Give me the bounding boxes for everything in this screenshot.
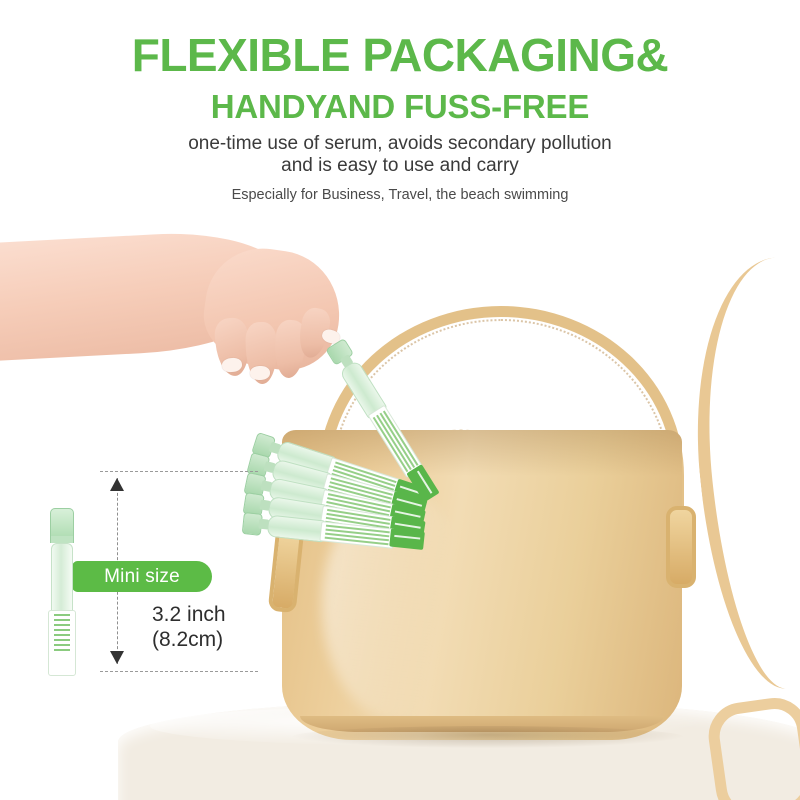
- bag-strap-loop: [704, 694, 800, 800]
- mini-size-badge-label: Mini size: [104, 566, 180, 588]
- ampoule-neck: [50, 536, 74, 543]
- bag-shoulder-strap: [678, 251, 800, 696]
- headline-secondary: HANDYAND FUSS-FREE: [0, 90, 800, 123]
- ampoule-label: [48, 610, 76, 676]
- product-banner: FLEXIBLE PACKAGING& HANDYAND FUSS-FREE o…: [0, 0, 800, 800]
- bag-drop-shadow: [292, 726, 684, 748]
- dimension-guide-bottom: [100, 671, 258, 672]
- reference-ampoule: [42, 508, 80, 674]
- headline-primary: FLEXIBLE PACKAGING&: [0, 32, 800, 78]
- ampoule-vial: [51, 543, 73, 613]
- bag-buckle-right: [666, 506, 696, 588]
- subtitle-line-2: and is easy to use and carry: [0, 155, 800, 177]
- dimension-arrow-up-icon: [110, 478, 124, 491]
- measurement-cm: (8.2cm): [152, 628, 223, 652]
- dimension-guide-top: [100, 471, 258, 472]
- mini-size-badge: Mini size: [72, 561, 212, 592]
- subtitle-line-3: Especially for Business, Travel, the bea…: [0, 187, 800, 203]
- measurement-inch: 3.2 inch: [152, 603, 226, 627]
- subtitle-line-1: one-time use of serum, avoids secondary …: [0, 133, 800, 155]
- ampoule-brand-tip: [389, 528, 425, 549]
- header-text-block: FLEXIBLE PACKAGING& HANDYAND FUSS-FREE o…: [0, 0, 800, 203]
- dimension-arrow-down-icon: [110, 651, 124, 664]
